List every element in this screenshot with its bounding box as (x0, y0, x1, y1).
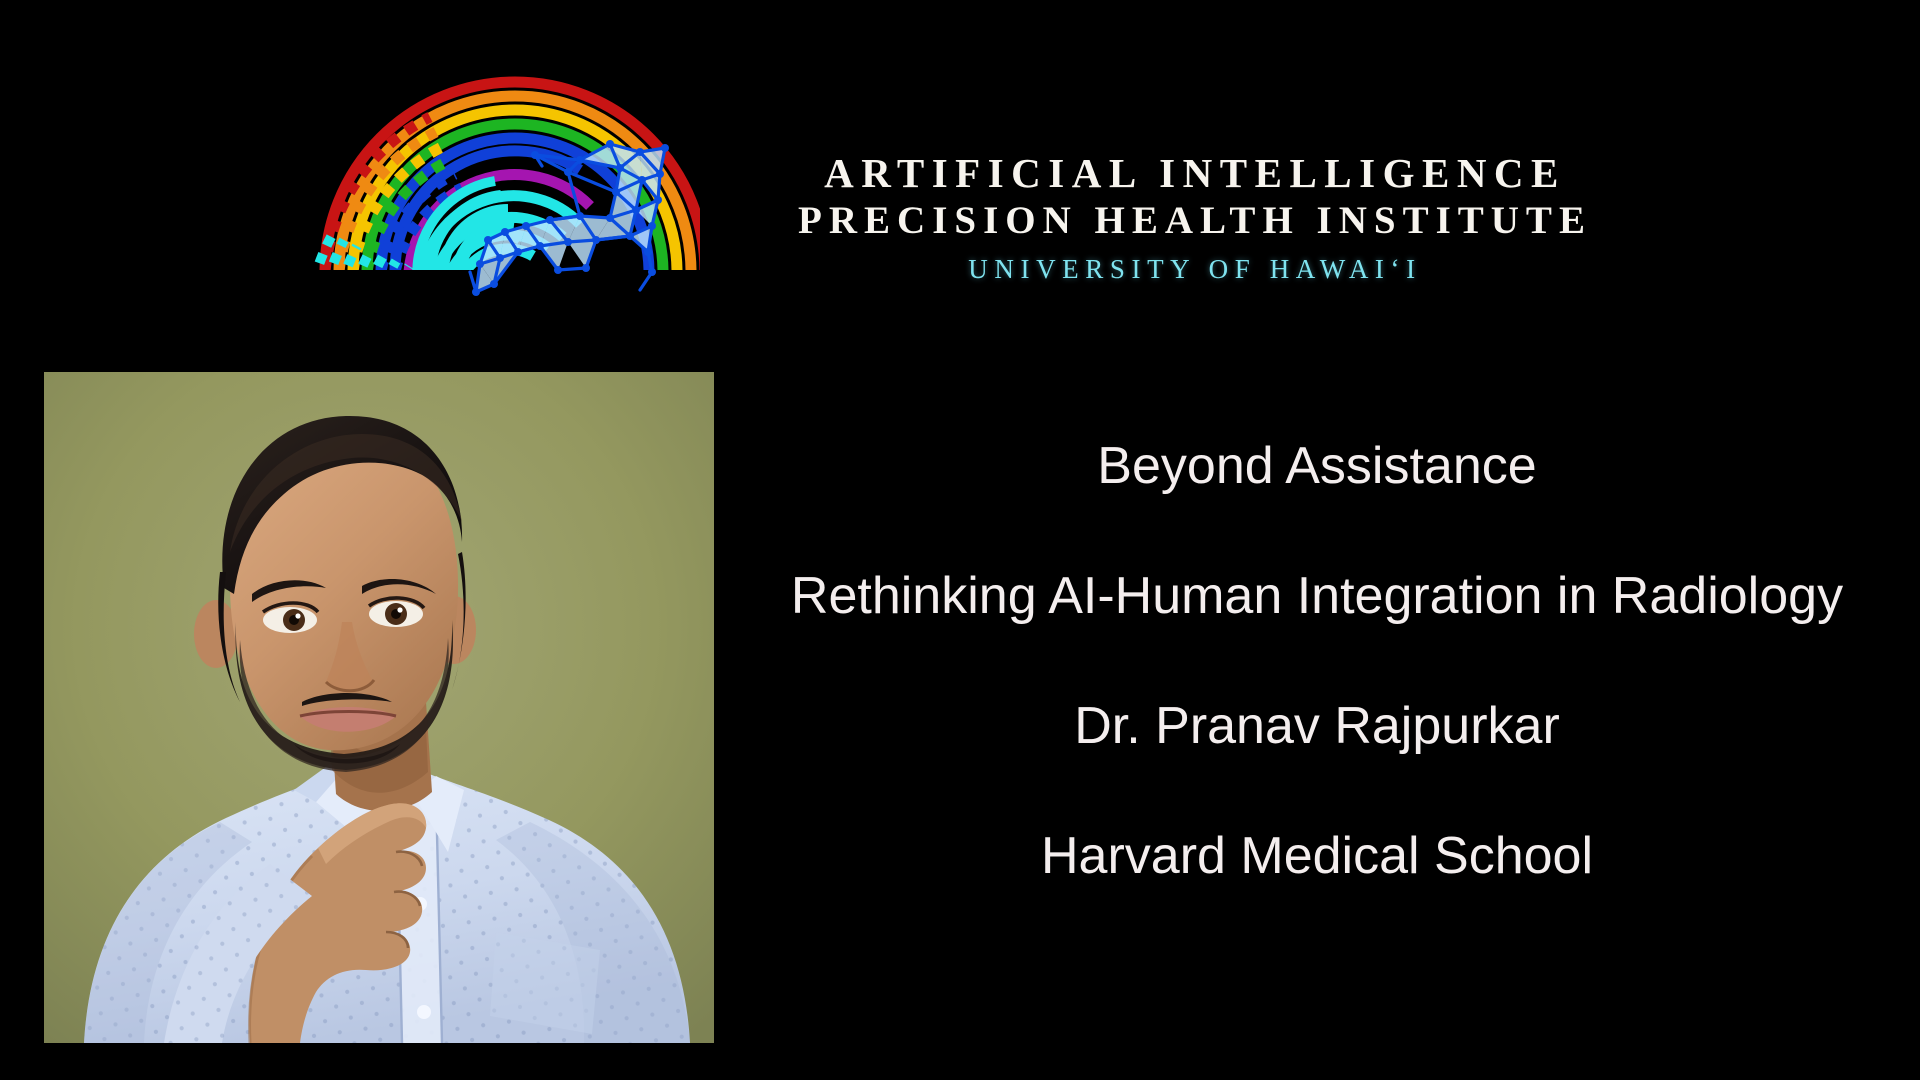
institute-logo: ARTIFICIAL INTELLIGENCE PRECISION HEALTH… (280, 40, 1700, 300)
logo-line-university-of-hawaii: UNIVERSITY OF HAWAIʻI (690, 249, 1700, 290)
slide-text-block: Beyond Assistance Rethinking AI-Human In… (714, 440, 1920, 882)
logo-line-artificial-intelligence: ARTIFICIAL INTELLIGENCE (690, 150, 1700, 198)
speaker-name: Dr. Pranav Rajpurkar (714, 700, 1920, 752)
title-slide: ARTIFICIAL INTELLIGENCE PRECISION HEALTH… (0, 0, 1920, 1080)
aipi-rainbow-arc-logo-icon (280, 40, 700, 300)
speaker-headshot: Headshot of a man with dark hair and bea… (44, 372, 714, 1043)
page-title: Beyond Assistance (714, 440, 1920, 492)
logo-line-precision-health-institute: PRECISION HEALTH INSTITUTE (690, 198, 1700, 243)
speaker-affiliation: Harvard Medical School (714, 830, 1920, 882)
page-subtitle: Rethinking AI-Human Integration in Radio… (714, 570, 1920, 622)
logo-wordmark: ARTIFICIAL INTELLIGENCE PRECISION HEALTH… (690, 150, 1700, 289)
